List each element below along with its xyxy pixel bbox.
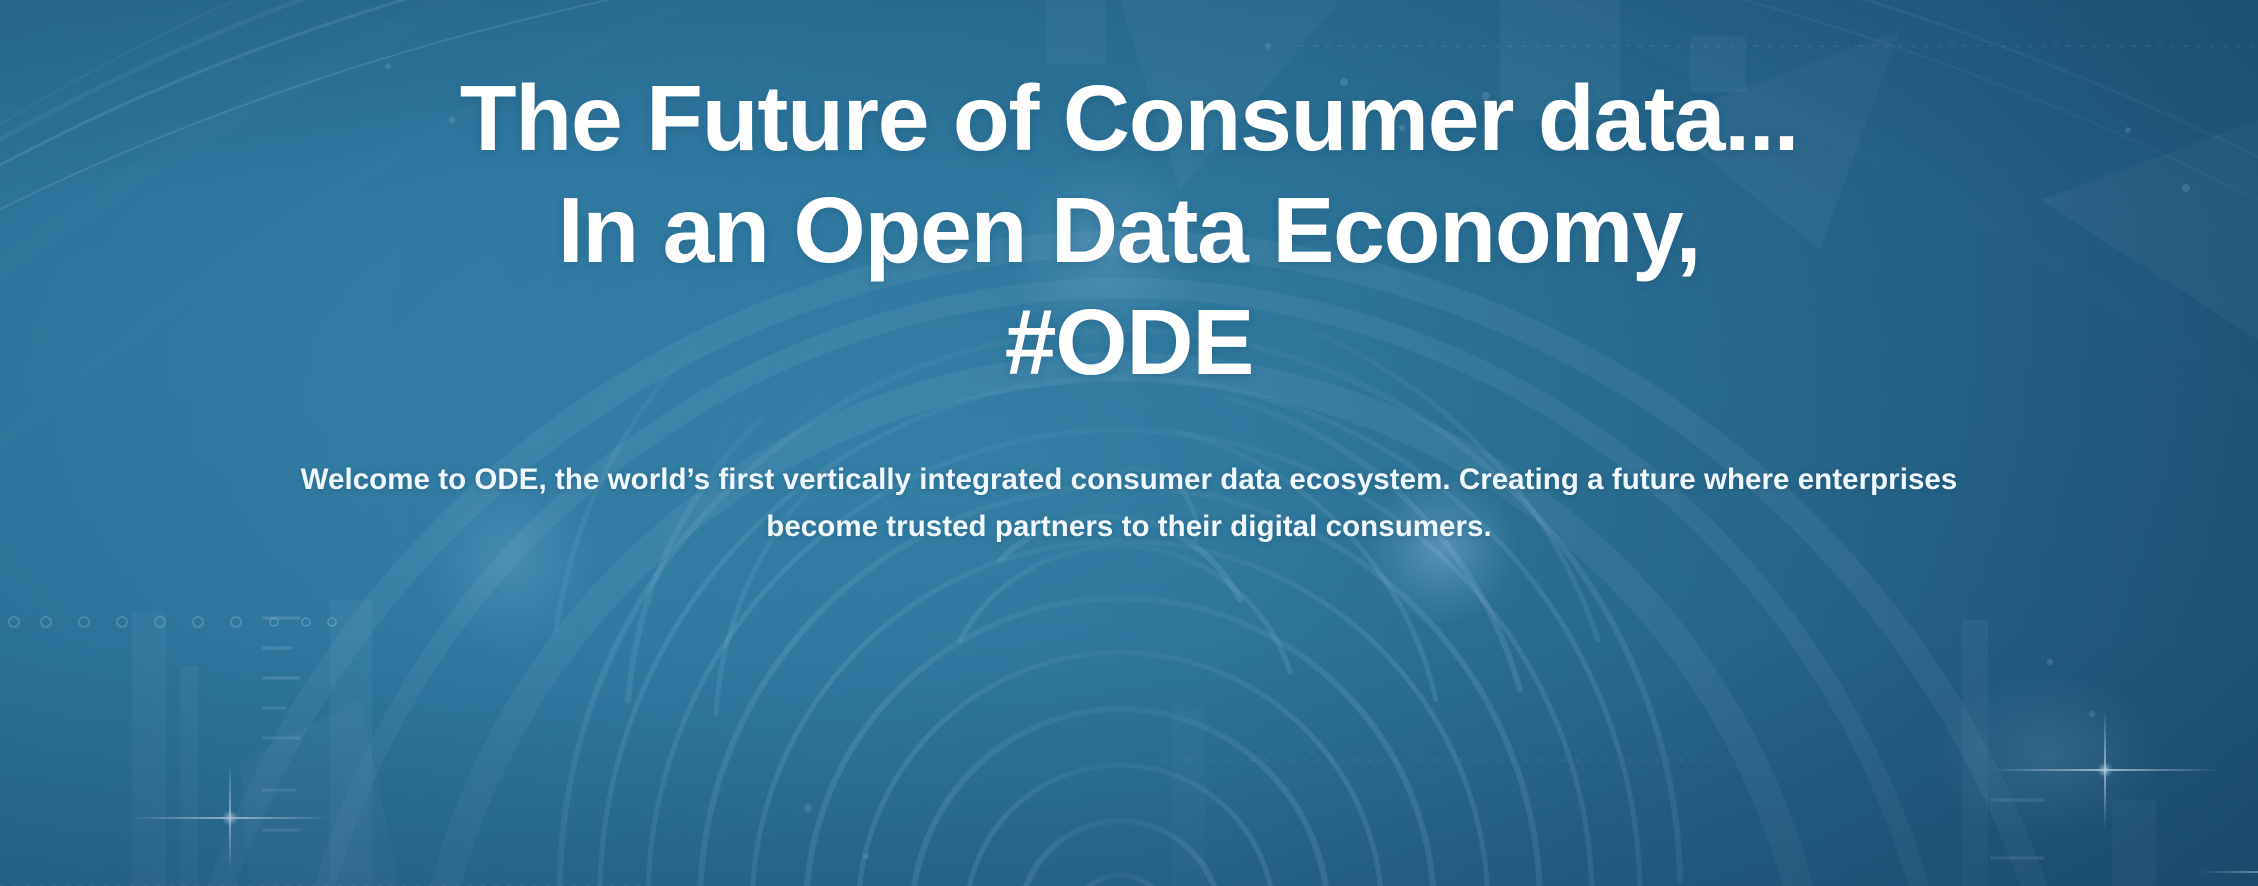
page-title: The Future of Consumer data... In an Ope… [39, 62, 2219, 398]
subtitle-line-1: Welcome to ODE, the world’s first vertic… [301, 463, 1451, 496]
headline-line-2: In an Open Data Economy, [39, 174, 2219, 286]
hero-content: The Future of Consumer data... In an Ope… [0, 0, 2258, 886]
headline-line-3: #ODE [39, 286, 2219, 398]
hero-banner: The Future of Consumer data... In an Ope… [0, 0, 2258, 886]
headline-line-1: The Future of Consumer data... [39, 62, 2219, 174]
hero-subtitle: Welcome to ODE, the world’s first vertic… [269, 456, 1989, 550]
subtitle-line-3: consumers. [1326, 510, 1492, 543]
